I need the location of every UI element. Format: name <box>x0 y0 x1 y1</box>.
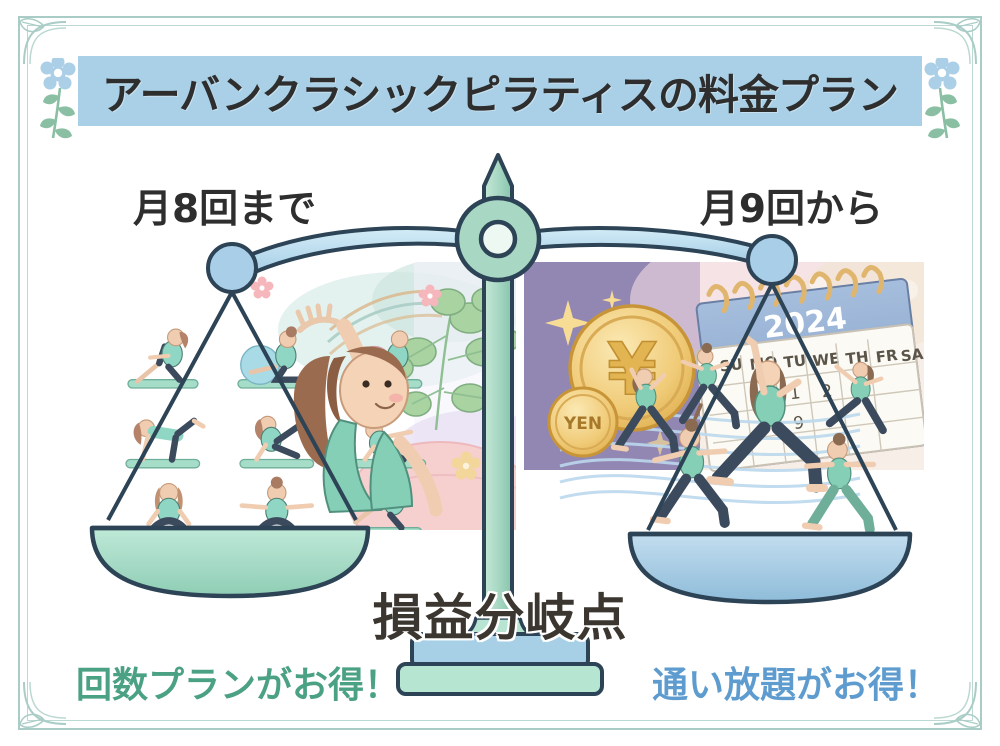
breakeven-point-label: 損益分岐点 <box>0 578 1000 650</box>
left-verdict-text: 回数プランがお得！ <box>76 656 400 708</box>
right-verdict-text: 通い放題がお得！ <box>652 656 940 708</box>
calendar-illustration: 2024 SU MO TU WE TH FR SA 1 2 3 <box>688 262 934 471</box>
scale-pivot <box>457 198 539 280</box>
weekday-tu: TU <box>783 351 807 372</box>
right-scene-artwork: 2024 SU MO TU WE TH FR SA 1 2 3 <box>524 230 960 529</box>
infographic-canvas: アーバンクラシックピラティスの料金プラン 月8回まで 月9回から <box>0 0 1000 746</box>
weekday-fr: FR <box>875 346 899 367</box>
yen-caption: YEN <box>563 414 602 434</box>
